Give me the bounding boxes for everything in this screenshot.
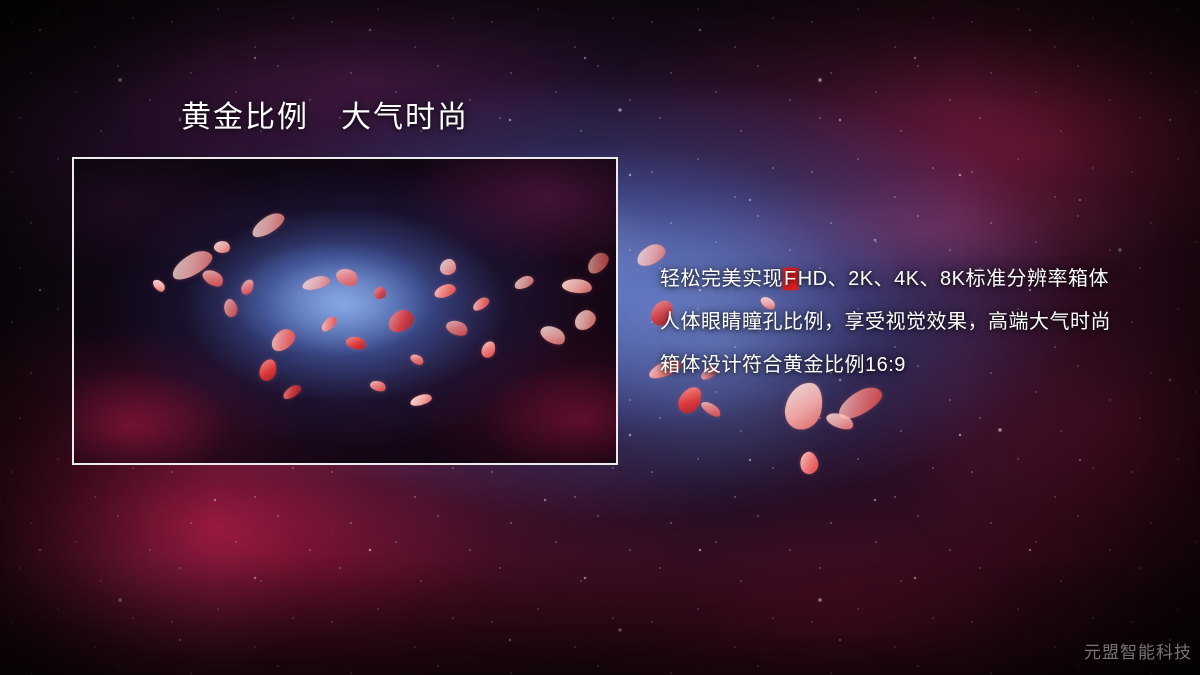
page-title: 黄金比例 大气时尚 <box>181 103 469 133</box>
line1-prefix: 轻松完美实现 <box>660 268 783 290</box>
presentation-slide: 黄金比例 大气时尚 轻松完美实现FHD、2K、4K、8K标准分辨率箱体 人体眼睛… <box>0 0 1200 675</box>
display-panel-frame <box>72 157 618 465</box>
panel-vignette <box>74 159 616 463</box>
description-line-2: 人体眼睛瞳孔比例，享受视觉效果，高端大气时尚 <box>660 301 1160 344</box>
line1-suffix: HD、2K、4K、8K标准分辨率箱体 <box>798 268 1109 290</box>
line1-highlight: F <box>783 268 798 290</box>
description-line-3: 箱体设计符合黄金比例16:9 <box>660 344 1160 387</box>
watermark: 元盟智能科技 <box>1084 638 1192 663</box>
feature-description: 轻松完美实现FHD、2K、4K、8K标准分辨率箱体 人体眼睛瞳孔比例，享受视觉效… <box>660 258 1160 387</box>
description-line-1: 轻松完美实现FHD、2K、4K、8K标准分辨率箱体 <box>660 258 1160 301</box>
